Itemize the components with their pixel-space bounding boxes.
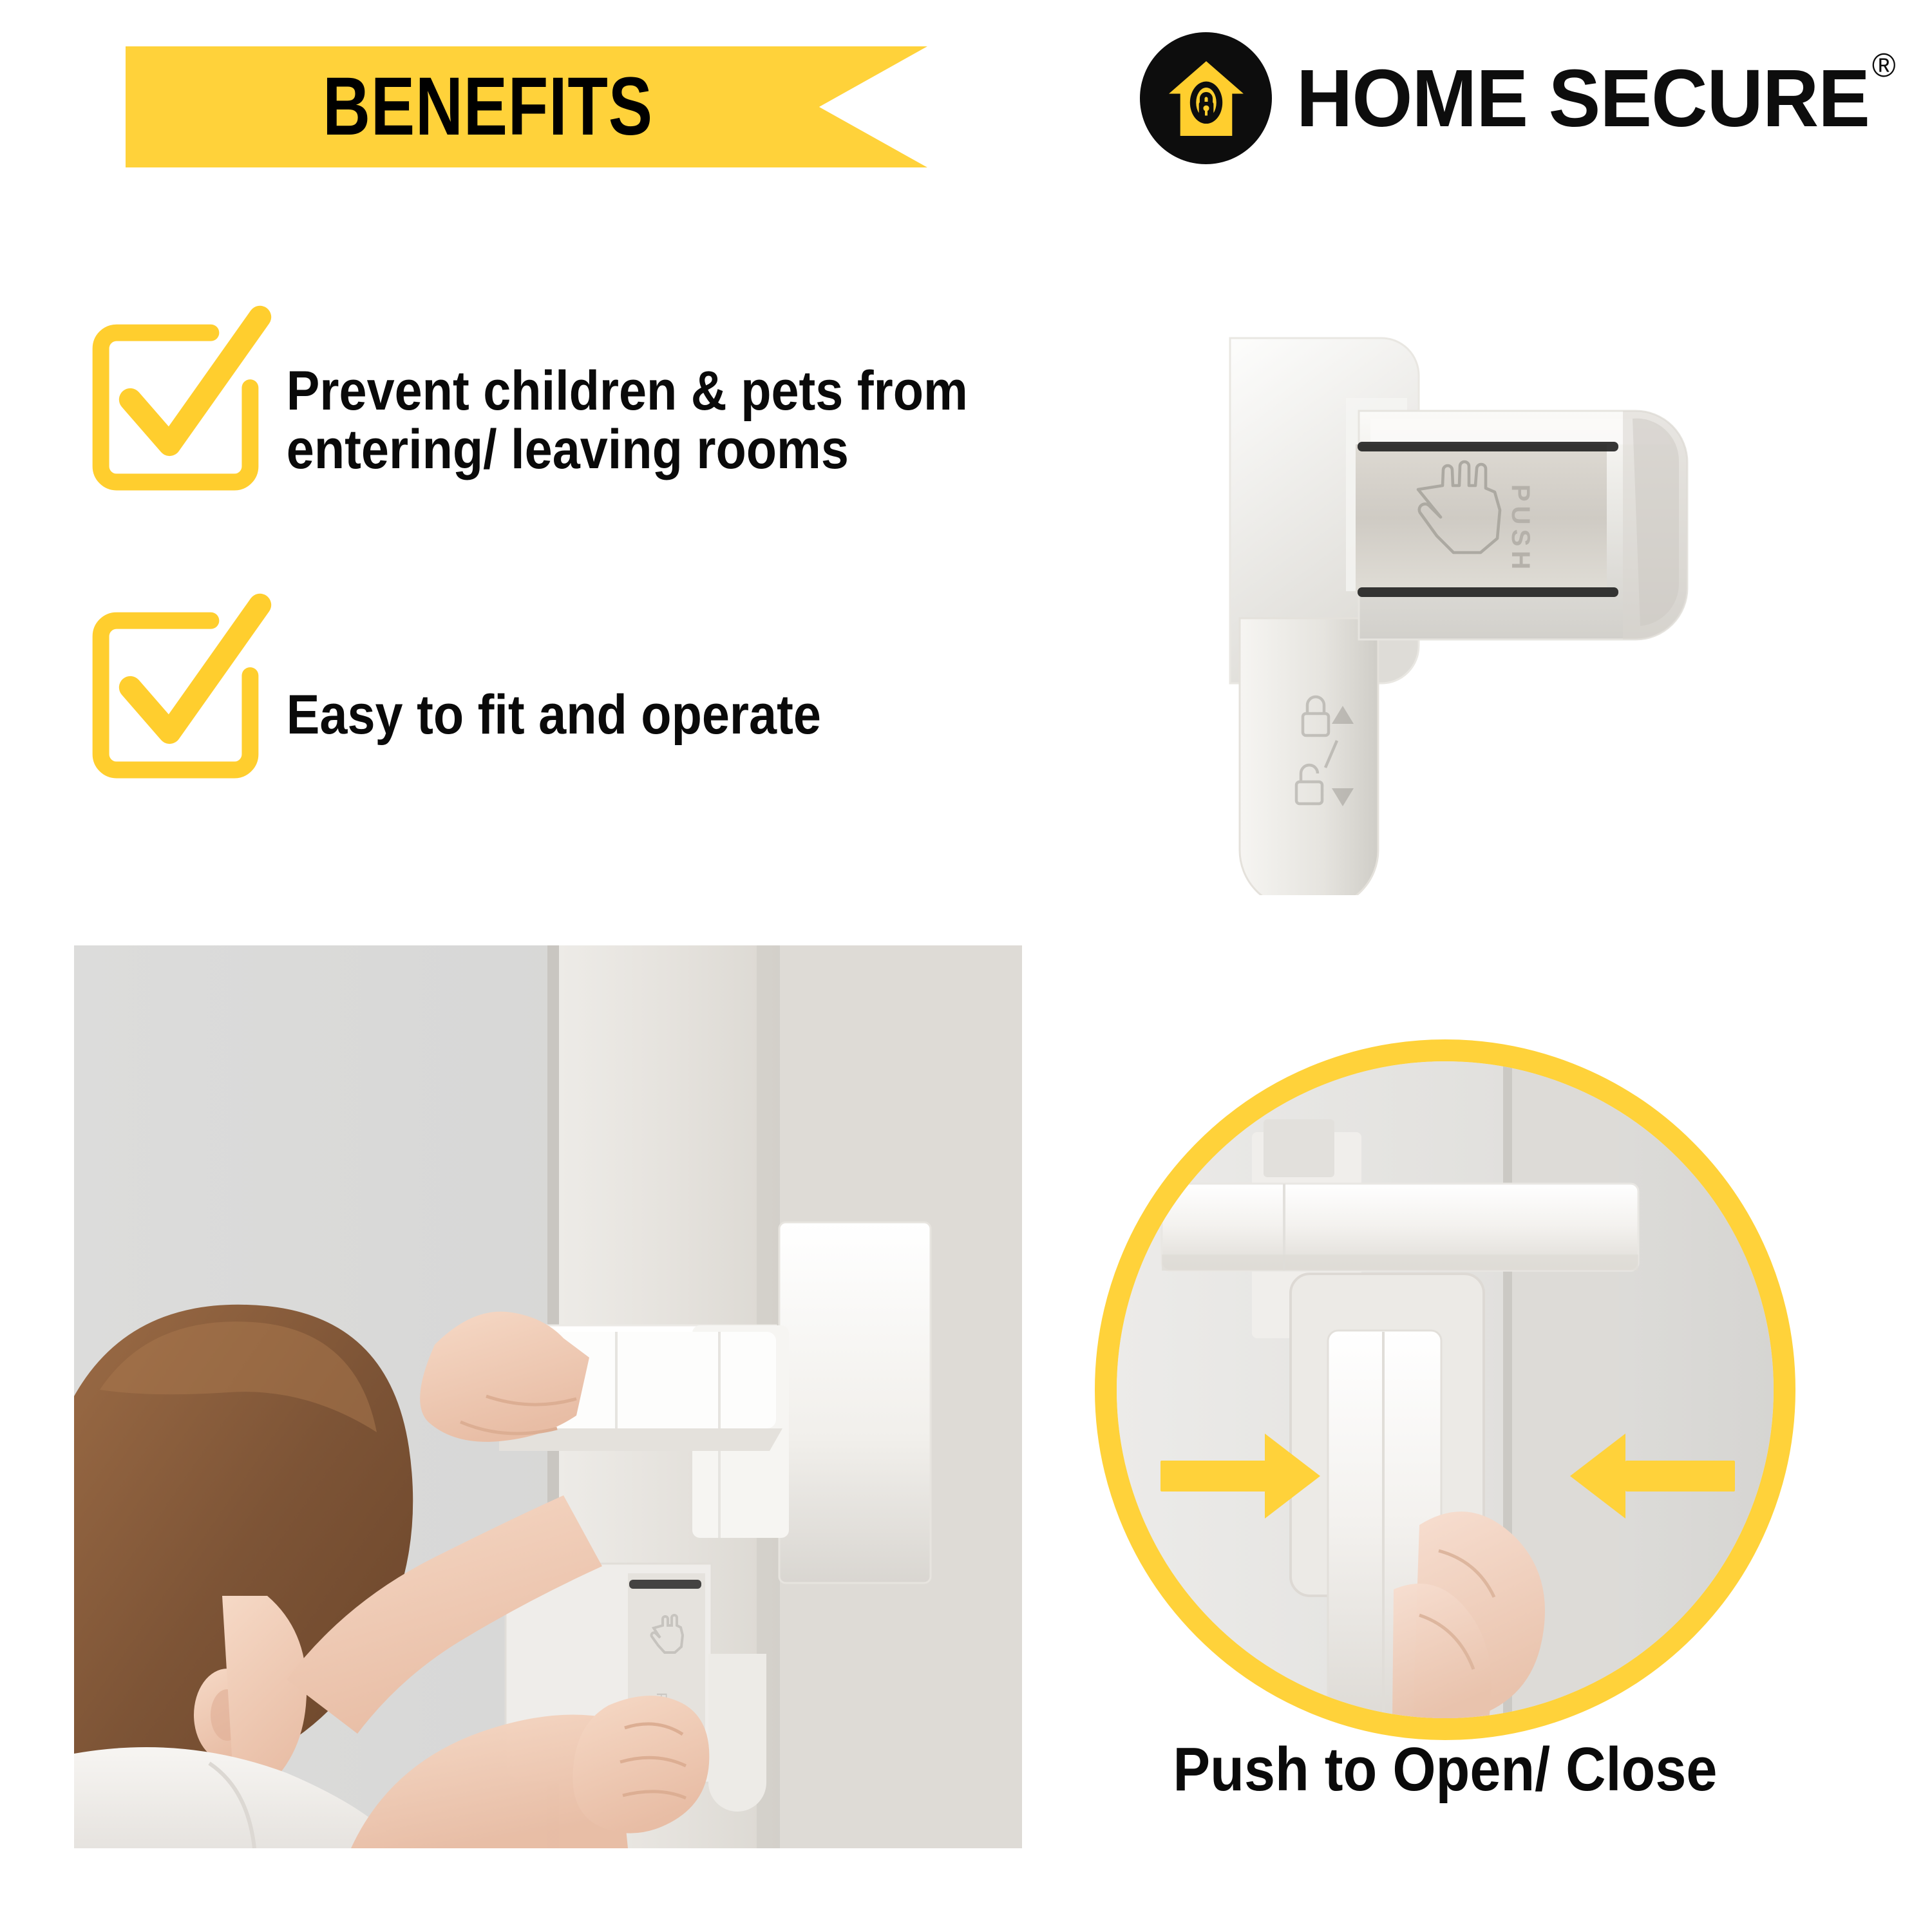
product-hero-image: PUSH [1211,316,1790,895]
banner-title: BENEFITS [323,66,653,148]
checkbox-check-icon [77,305,274,502]
brand-name: HOME SECURE [1296,53,1870,144]
benefits-list: Prevent children & pets from entering/ l… [77,309,1082,885]
benefit-item-1: Prevent children & pets from entering/ l… [77,309,1082,502]
registered-trademark-icon: ® [1872,47,1895,84]
push-demo-illustration [1117,1061,1774,1718]
circle-yellow-ring [1095,1039,1795,1740]
benefit-text-2: Easy to fit and operate [274,597,821,744]
house-lock-glyph [1166,58,1247,139]
checkbox-check-icon [77,593,274,790]
brand-wordmark: HOME SECURE® [1296,58,1893,139]
baby-door-photo: PUSH [74,945,1022,1848]
benefit-line: entering/ leaving rooms [287,421,968,479]
push-demo-circle [1095,1039,1795,1740]
house-lock-icon [1140,32,1272,164]
door-lever-lock-illustration: PUSH [1211,316,1790,895]
benefit-text-1: Prevent children & pets from entering/ l… [274,309,968,479]
brand-logo: HOME SECURE® [1140,26,1887,171]
push-label: PUSH [1506,484,1535,574]
benefit-item-2: Easy to fit and operate [77,597,1082,790]
benefit-line: Easy to fit and operate [287,686,821,744]
benefits-banner: BENEFITS [126,46,927,167]
push-demo-caption: Push to Open/ Close [1130,1739,1760,1801]
benefit-line: Prevent children & pets from [287,362,968,421]
svg-text:PUSH: PUSH [1506,484,1535,574]
baby-reaching-door-illustration: PUSH [74,945,1022,1848]
